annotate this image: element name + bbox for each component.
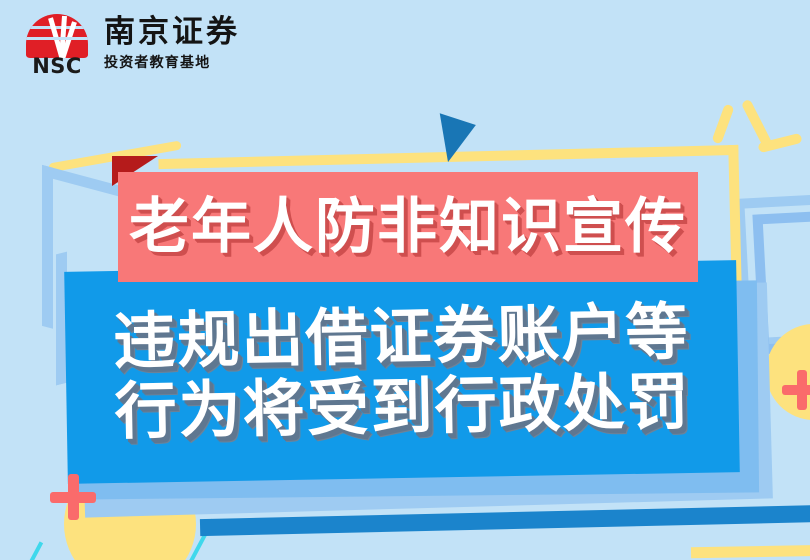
cyan-line-secondary-decoration bbox=[21, 541, 43, 560]
company-name: 南京证券 bbox=[104, 16, 240, 49]
promotional-poster: 老年人防非知识宣传 违规出借证券账户等 行为将受到行政处罚 NSC 南京证券 投… bbox=[0, 0, 810, 560]
logo-abbreviation: NSC bbox=[22, 54, 92, 78]
brand-logo: NSC 南京证券 投资者教育基地 bbox=[22, 14, 272, 80]
nsc-dome-icon: NSC bbox=[22, 14, 92, 76]
header-band: NSC 南京证券 投资者教育基地 bbox=[0, 0, 810, 92]
dome-shape bbox=[26, 14, 88, 58]
headline-line-1: 违规出借证券账户等 bbox=[113, 299, 690, 375]
red-plus-right-decoration bbox=[782, 370, 810, 410]
kicker-text: 老年人防非知识宣传 bbox=[129, 197, 687, 257]
burst-ray-1 bbox=[711, 103, 734, 144]
headline-container: 违规出借证券账户等 行为将受到行政处罚 bbox=[64, 260, 740, 484]
brand-text: 南京证券 投资者教育基地 bbox=[104, 14, 240, 72]
company-tagline: 投资者教育基地 bbox=[104, 52, 240, 72]
headline-line-2: 行为将受到行政处罚 bbox=[114, 369, 691, 445]
